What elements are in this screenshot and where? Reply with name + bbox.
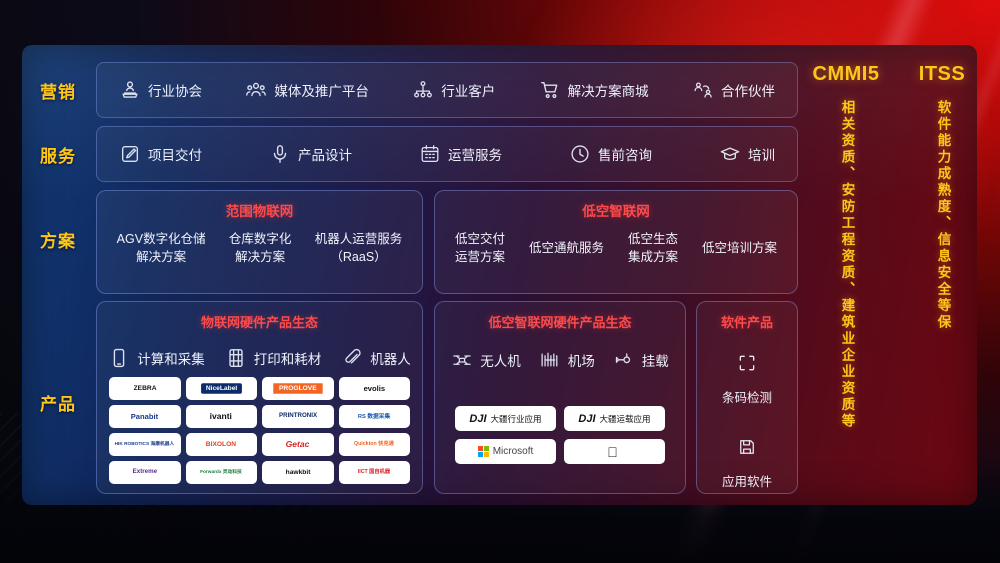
cert-title-itss: ITSS (896, 63, 988, 86)
solution-item[interactable]: AGV数字化仓储 解决方案 (117, 231, 206, 267)
cert-title-cmmi: CMMI5 (800, 63, 892, 86)
product-la-item-label: 无人机 (480, 350, 521, 370)
dji-wordmark: DJI (578, 413, 595, 425)
brand-logo-dji-enterprise[interactable]: DJI 大疆行业应用 (455, 406, 556, 431)
category-label-product: 产品 (22, 390, 94, 415)
microphone-icon (269, 143, 291, 165)
solution-box-iot: 范围物联网 AGV数字化仓储 解决方案 仓库数字化 解决方案 机器人运营服务 （… (96, 190, 423, 294)
cert-column-cmmi: CMMI5 相关资质、安防工程资质、建筑业企业资质等 (800, 0, 892, 563)
partner-logo-label: IICT 国自机器 (358, 470, 390, 475)
marketing-item-label: 行业客户 (441, 80, 495, 100)
solution-item[interactable]: 低空生态 集成方案 (628, 231, 678, 267)
service-item-label: 产品设计 (298, 144, 352, 164)
marketing-item-label: 媒体及推广平台 (274, 80, 369, 100)
brand-logo-label: 大疆行业应用 (491, 413, 542, 425)
marketing-item-industry-customer[interactable]: 行业客户 (412, 79, 495, 101)
apple-icon:  (607, 445, 618, 459)
product-la-item-payload[interactable]: 挂载 (613, 349, 669, 371)
partner-logo[interactable]: RS 数据采集 (339, 405, 411, 428)
marketing-item-label: 合作伙伴 (721, 80, 775, 100)
barcode-scan-frame-icon (697, 353, 797, 378)
category-label-marketing: 营销 (22, 78, 94, 103)
product-la-item-drone[interactable]: 无人机 (451, 349, 521, 371)
shopping-cart-icon (539, 79, 561, 101)
service-item-presales-consulting[interactable]: 售前咨询 (569, 143, 652, 165)
product-title-iot-hardware: 物联网硬件产品生态 (97, 312, 422, 331)
drone-icon (451, 349, 473, 371)
service-item-label: 培训 (748, 144, 775, 164)
partner-logo-label: PRINTRONIX (279, 413, 317, 419)
brand-logo-dji-delivery[interactable]: DJI 大疆运载应用 (564, 406, 665, 431)
cert-body-cmmi: 相关资质、安防工程资质、建筑业企业资质等 (838, 100, 855, 430)
marketing-item-industry-association[interactable]: 行业协会 (119, 79, 202, 101)
marketing-row: 行业协会 媒体及推广平台 行业客户 解决方案商城 合作伙伴 (96, 62, 798, 118)
dji-wordmark: DJI (469, 413, 486, 425)
partner-logo[interactable]: Forwardx 灵动科技 (186, 461, 258, 484)
cert-body-itss: 软件能力成熟度、信息安全等保 (934, 100, 951, 331)
solution-item[interactable]: 仓库数字化 解决方案 (229, 231, 292, 267)
partner-logo[interactable]: evolis (339, 377, 411, 400)
slide-root: 营销 服务 方案 产品 行业协会 媒体及推广平台 行业客户 (0, 0, 1000, 563)
product-iot-item-robot[interactable]: 机器人 (341, 347, 411, 369)
partner-logo[interactable]: ZEBRA (109, 377, 181, 400)
product-iot-item-printing[interactable]: 打印和耗材 (225, 347, 322, 369)
brand-logo-label: 大疆运载应用 (600, 413, 651, 425)
service-item-product-design[interactable]: 产品设计 (269, 143, 352, 165)
tablet-device-icon (108, 347, 130, 369)
partner-logo[interactable]: NiceLabel (186, 377, 258, 400)
presenter-icon (119, 79, 141, 101)
partner-logo-label: Getac (286, 440, 310, 449)
solution-item[interactable]: 机器人运营服务 （RaaS） (315, 231, 403, 267)
handshake-partners-icon (692, 79, 714, 101)
category-label-column: 营销 服务 方案 产品 (22, 45, 94, 505)
partner-logo[interactable]: PROGLOVE (262, 377, 334, 400)
partner-logo-label: ivanti (210, 412, 232, 421)
product-iot-item-label: 机器人 (370, 348, 411, 368)
service-row: 项目交付 产品设计 运营服务 售前咨询 培训 (96, 126, 798, 182)
marketing-item-partners[interactable]: 合作伙伴 (692, 79, 775, 101)
low-altitude-logo-grid: DJI 大疆行业应用 DJI 大疆运载应用 Microsoft  (455, 406, 665, 464)
product-la-item-label: 机场 (568, 350, 595, 370)
partner-logo[interactable]: BIXOLON (186, 433, 258, 456)
solution-item[interactable]: 低空交付 运营方案 (455, 231, 505, 267)
brand-logo-label: Microsoft (493, 446, 534, 457)
marketing-item-label: 解决方案商城 (568, 80, 649, 100)
service-item-label: 售前咨询 (598, 144, 652, 164)
printer-icon (225, 347, 247, 369)
product-low-altitude-icon-row: 无人机 机场 挂载 (435, 349, 685, 371)
category-label-service: 服务 (22, 142, 94, 167)
marketing-item-label: 行业协会 (148, 80, 202, 100)
product-iot-icon-row: 计算和采集 打印和耗材 机器人 (97, 347, 422, 369)
floppy-disk-icon (697, 437, 797, 462)
brand-logo-apple[interactable]:  (564, 439, 665, 464)
partner-logo-label: NiceLabel (201, 383, 242, 393)
partner-logo[interactable]: ivanti (186, 405, 258, 428)
solution-item[interactable]: 低空通航服务 (529, 240, 604, 258)
partner-logo[interactable]: Quickton 快克通 (339, 433, 411, 456)
cert-column-itss: ITSS 软件能力成熟度、信息安全等保 (896, 0, 988, 563)
product-la-item-label: 挂载 (642, 350, 669, 370)
service-items: 项目交付 产品设计 运营服务 售前咨询 培训 (97, 127, 797, 181)
microsoft-squares-icon (478, 446, 489, 457)
solution-item[interactable]: 低空培训方案 (702, 240, 777, 258)
partner-logo[interactable]: HIK ROBOTICS 海康机器人 (109, 433, 181, 456)
partner-logo-label: PROGLOVE (273, 383, 322, 393)
partner-logo-label: BIXOLON (206, 441, 236, 448)
partner-logo-label: Quickton 快克通 (354, 442, 394, 447)
product-iot-item-label: 计算和采集 (137, 348, 205, 368)
partner-logo-label: Extreme (133, 469, 157, 475)
partner-logo[interactable]: PRINTRONIX (262, 405, 334, 428)
partner-logo-label: ZEBRA (133, 385, 156, 392)
partner-logo-label: evolis (363, 385, 385, 393)
partner-logo[interactable]: IICT 国自机器 (339, 461, 411, 484)
clock-icon (569, 143, 591, 165)
calendar-icon (419, 143, 441, 165)
service-item-operation-service[interactable]: 运营服务 (419, 143, 502, 165)
marketing-items: 行业协会 媒体及推广平台 行业客户 解决方案商城 合作伙伴 (97, 63, 797, 117)
partner-logo-grid: ZEBRA NiceLabel PROGLOVE evolis Panabit … (109, 377, 410, 484)
org-network-icon (412, 79, 434, 101)
partner-logo[interactable]: hawkbit (262, 461, 334, 484)
software-item-label: 应用软件 (722, 475, 772, 489)
partner-logo-label: Forwardx 灵动科技 (200, 470, 242, 475)
product-box-low-altitude-hardware: 低空智联网硬件产品生态 无人机 机场 挂载 DJI 大疆行 (434, 301, 686, 494)
service-item-project-delivery[interactable]: 项目交付 (119, 143, 202, 165)
software-item-label: 条码检测 (722, 391, 772, 405)
product-la-item-airport[interactable]: 机场 (539, 349, 595, 371)
people-group-icon (245, 79, 267, 101)
software-item-barcode[interactable]: 条码检测 (697, 353, 797, 407)
solution-items-low-altitude: 低空交付 运营方案 低空通航服务 低空生态 集成方案 低空培训方案 (435, 220, 797, 278)
partner-logo[interactable]: Getac (262, 433, 334, 456)
partner-logo[interactable]: Panabit (109, 405, 181, 428)
brand-logo-microsoft[interactable]: Microsoft (455, 439, 556, 464)
product-title-software: 软件产品 (697, 312, 797, 331)
solution-items-iot: AGV数字化仓储 解决方案 仓库数字化 解决方案 机器人运营服务 （RaaS） (97, 220, 422, 278)
marketing-item-media-promotion[interactable]: 媒体及推广平台 (245, 79, 369, 101)
partner-logo-label: Panabit (131, 413, 158, 421)
product-iot-item-computing[interactable]: 计算和采集 (108, 347, 205, 369)
partner-logo-label: HIK ROBOTICS 海康机器人 (115, 442, 175, 447)
service-item-label: 项目交付 (148, 144, 202, 164)
payload-mount-icon (613, 349, 635, 371)
product-title-low-altitude-hardware: 低空智联网硬件产品生态 (435, 312, 685, 331)
partner-logo-label: hawkbit (285, 469, 310, 476)
product-box-software: 软件产品 条码检测 应用软件 (696, 301, 798, 494)
product-iot-item-label: 打印和耗材 (254, 348, 322, 368)
graduation-cap-icon (719, 143, 741, 165)
service-item-label: 运营服务 (448, 144, 502, 164)
service-item-training[interactable]: 培训 (719, 143, 775, 165)
solution-title-iot: 范围物联网 (97, 200, 422, 220)
pencil-note-icon (119, 143, 141, 165)
paperclip-robot-icon (341, 347, 363, 369)
partner-logo[interactable]: Extreme (109, 461, 181, 484)
solution-box-low-altitude: 低空智联网 低空交付 运营方案 低空通航服务 低空生态 集成方案 低空培训方案 (434, 190, 798, 294)
partner-logo-label: RS 数据采集 (358, 414, 390, 420)
category-label-solution: 方案 (22, 227, 94, 252)
product-box-iot-hardware: 物联网硬件产品生态 计算和采集 打印和耗材 机器人 ZEBRA NiceLabe… (96, 301, 423, 494)
airport-dock-icon (539, 349, 561, 371)
marketing-item-solution-mall[interactable]: 解决方案商城 (539, 79, 649, 101)
solution-title-low-altitude: 低空智联网 (435, 200, 797, 220)
software-item-application[interactable]: 应用软件 (697, 437, 797, 491)
